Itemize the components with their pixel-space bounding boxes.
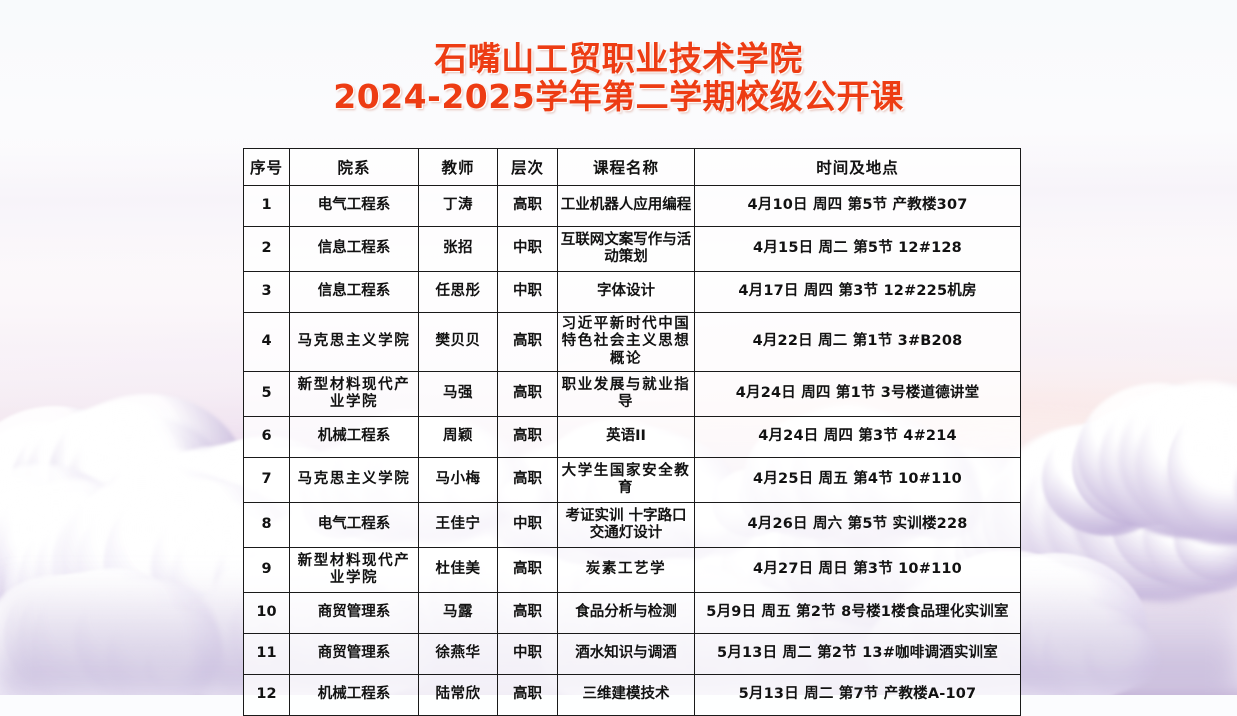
table-header-row: 序号 院系 教师 层次 课程名称 时间及地点 xyxy=(244,149,1021,186)
cell-index: 7 xyxy=(244,458,290,503)
cell-level: 高职 xyxy=(498,313,558,372)
cell-index: 3 xyxy=(244,272,290,313)
cell-course: 互联网文案写作与活动策划 xyxy=(558,227,695,272)
cell-index: 4 xyxy=(244,313,290,372)
cell-teacher: 马强 xyxy=(419,372,498,417)
table-row: 10商贸管理系马露高职食品分析与检测5月9日 周五 第2节 8号楼1楼食品理化实… xyxy=(244,593,1021,634)
cell-dept: 新型材料现代产业学院 xyxy=(290,548,419,593)
cell-course: 酒水知识与调酒 xyxy=(558,634,695,675)
cell-teacher: 王佳宁 xyxy=(419,503,498,548)
cell-teacher: 杜佳美 xyxy=(419,548,498,593)
cell-teacher: 徐燕华 xyxy=(419,634,498,675)
cell-course: 英语II xyxy=(558,417,695,458)
cell-level: 中职 xyxy=(498,272,558,313)
col-header-course: 课程名称 xyxy=(558,149,695,186)
cell-index: 9 xyxy=(244,548,290,593)
title-line-term: 2024-2025学年第二学期校级公开课 xyxy=(0,78,1237,116)
col-header-teacher: 教师 xyxy=(419,149,498,186)
table-row: 1电气工程系丁涛高职工业机器人应用编程4月10日 周四 第5节 产教楼307 xyxy=(244,186,1021,227)
cell-course: 习近平新时代中国特色社会主义思想概论 xyxy=(558,313,695,372)
cell-level: 中职 xyxy=(498,227,558,272)
cell-level: 中职 xyxy=(498,503,558,548)
cell-teacher: 周颖 xyxy=(419,417,498,458)
col-header-level: 层次 xyxy=(498,149,558,186)
cell-dept: 商贸管理系 xyxy=(290,634,419,675)
public-course-schedule-table: 序号 院系 教师 层次 课程名称 时间及地点 1电气工程系丁涛高职工业机器人应用… xyxy=(243,148,1021,716)
cell-when: 4月27日 周日 第3节 10#110 xyxy=(695,548,1021,593)
cell-teacher: 马小梅 xyxy=(419,458,498,503)
page-title: 石嘴山工贸职业技术学院 2024-2025学年第二学期校级公开课 xyxy=(0,40,1237,117)
table-row: 12机械工程系陆常欣高职三维建模技术5月13日 周二 第7节 产教楼A-107 xyxy=(244,675,1021,716)
cell-level: 中职 xyxy=(498,634,558,675)
cell-dept: 机械工程系 xyxy=(290,417,419,458)
cell-index: 8 xyxy=(244,503,290,548)
table-row: 5新型材料现代产业学院马强高职职业发展与就业指导4月24日 周四 第1节 3号楼… xyxy=(244,372,1021,417)
cell-course: 职业发展与就业指导 xyxy=(558,372,695,417)
cell-course: 字体设计 xyxy=(558,272,695,313)
cell-teacher: 丁涛 xyxy=(419,186,498,227)
cell-index: 11 xyxy=(244,634,290,675)
cell-level: 高职 xyxy=(498,548,558,593)
cell-level: 高职 xyxy=(498,675,558,716)
table-row: 2信息工程系张招中职互联网文案写作与活动策划4月15日 周二 第5节 12#12… xyxy=(244,227,1021,272)
cell-level: 高职 xyxy=(498,593,558,634)
cell-index: 12 xyxy=(244,675,290,716)
cell-index: 2 xyxy=(244,227,290,272)
cell-dept: 电气工程系 xyxy=(290,503,419,548)
cell-dept: 新型材料现代产业学院 xyxy=(290,372,419,417)
cell-level: 高职 xyxy=(498,458,558,503)
cell-when: 5月9日 周五 第2节 8号楼1楼食品理化实训室 xyxy=(695,593,1021,634)
col-header-when: 时间及地点 xyxy=(695,149,1021,186)
cell-dept: 电气工程系 xyxy=(290,186,419,227)
cell-level: 高职 xyxy=(498,186,558,227)
table-row: 7马克思主义学院马小梅高职大学生国家安全教育4月25日 周五 第4节 10#11… xyxy=(244,458,1021,503)
cell-teacher: 马露 xyxy=(419,593,498,634)
col-header-dept: 院系 xyxy=(290,149,419,186)
table-row: 3信息工程系任思彤中职字体设计4月17日 周四 第3节 12#225机房 xyxy=(244,272,1021,313)
cell-when: 4月15日 周二 第5节 12#128 xyxy=(695,227,1021,272)
cell-course: 炭素工艺学 xyxy=(558,548,695,593)
col-header-index: 序号 xyxy=(244,149,290,186)
cell-when: 4月24日 周四 第1节 3号楼道德讲堂 xyxy=(695,372,1021,417)
cell-index: 1 xyxy=(244,186,290,227)
cell-course: 三维建模技术 xyxy=(558,675,695,716)
cell-dept: 信息工程系 xyxy=(290,227,419,272)
cell-level: 高职 xyxy=(498,372,558,417)
cell-index: 5 xyxy=(244,372,290,417)
cell-teacher: 陆常欣 xyxy=(419,675,498,716)
cell-dept: 马克思主义学院 xyxy=(290,458,419,503)
cell-teacher: 任思彤 xyxy=(419,272,498,313)
cell-dept: 信息工程系 xyxy=(290,272,419,313)
cell-course: 大学生国家安全教育 xyxy=(558,458,695,503)
cell-course: 食品分析与检测 xyxy=(558,593,695,634)
cell-dept: 马克思主义学院 xyxy=(290,313,419,372)
cell-when: 4月10日 周四 第5节 产教楼307 xyxy=(695,186,1021,227)
cell-dept: 机械工程系 xyxy=(290,675,419,716)
cell-when: 5月13日 周二 第7节 产教楼A-107 xyxy=(695,675,1021,716)
cell-course: 工业机器人应用编程 xyxy=(558,186,695,227)
cell-when: 4月26日 周六 第5节 实训楼228 xyxy=(695,503,1021,548)
cell-index: 10 xyxy=(244,593,290,634)
table-row: 11商贸管理系徐燕华中职酒水知识与调酒5月13日 周二 第2节 13#咖啡调酒实… xyxy=(244,634,1021,675)
schedule-table-container: 序号 院系 教师 层次 课程名称 时间及地点 1电气工程系丁涛高职工业机器人应用… xyxy=(243,148,1020,716)
table-row: 9新型材料现代产业学院杜佳美高职炭素工艺学4月27日 周日 第3节 10#110 xyxy=(244,548,1021,593)
cell-teacher: 张招 xyxy=(419,227,498,272)
title-line-school: 石嘴山工贸职业技术学院 xyxy=(0,40,1237,78)
cell-when: 5月13日 周二 第2节 13#咖啡调酒实训室 xyxy=(695,634,1021,675)
cell-when: 4月24日 周四 第3节 4#214 xyxy=(695,417,1021,458)
cell-level: 高职 xyxy=(498,417,558,458)
table-row: 4马克思主义学院樊贝贝高职习近平新时代中国特色社会主义思想概论4月22日 周二 … xyxy=(244,313,1021,372)
cell-course: 考证实训 十字路口交通灯设计 xyxy=(558,503,695,548)
cell-when: 4月17日 周四 第3节 12#225机房 xyxy=(695,272,1021,313)
cell-when: 4月22日 周二 第1节 3#B208 xyxy=(695,313,1021,372)
table-row: 6机械工程系周颖高职英语II4月24日 周四 第3节 4#214 xyxy=(244,417,1021,458)
table-row: 8电气工程系王佳宁中职考证实训 十字路口交通灯设计4月26日 周六 第5节 实训… xyxy=(244,503,1021,548)
cell-index: 6 xyxy=(244,417,290,458)
cell-when: 4月25日 周五 第4节 10#110 xyxy=(695,458,1021,503)
cell-teacher: 樊贝贝 xyxy=(419,313,498,372)
cell-dept: 商贸管理系 xyxy=(290,593,419,634)
